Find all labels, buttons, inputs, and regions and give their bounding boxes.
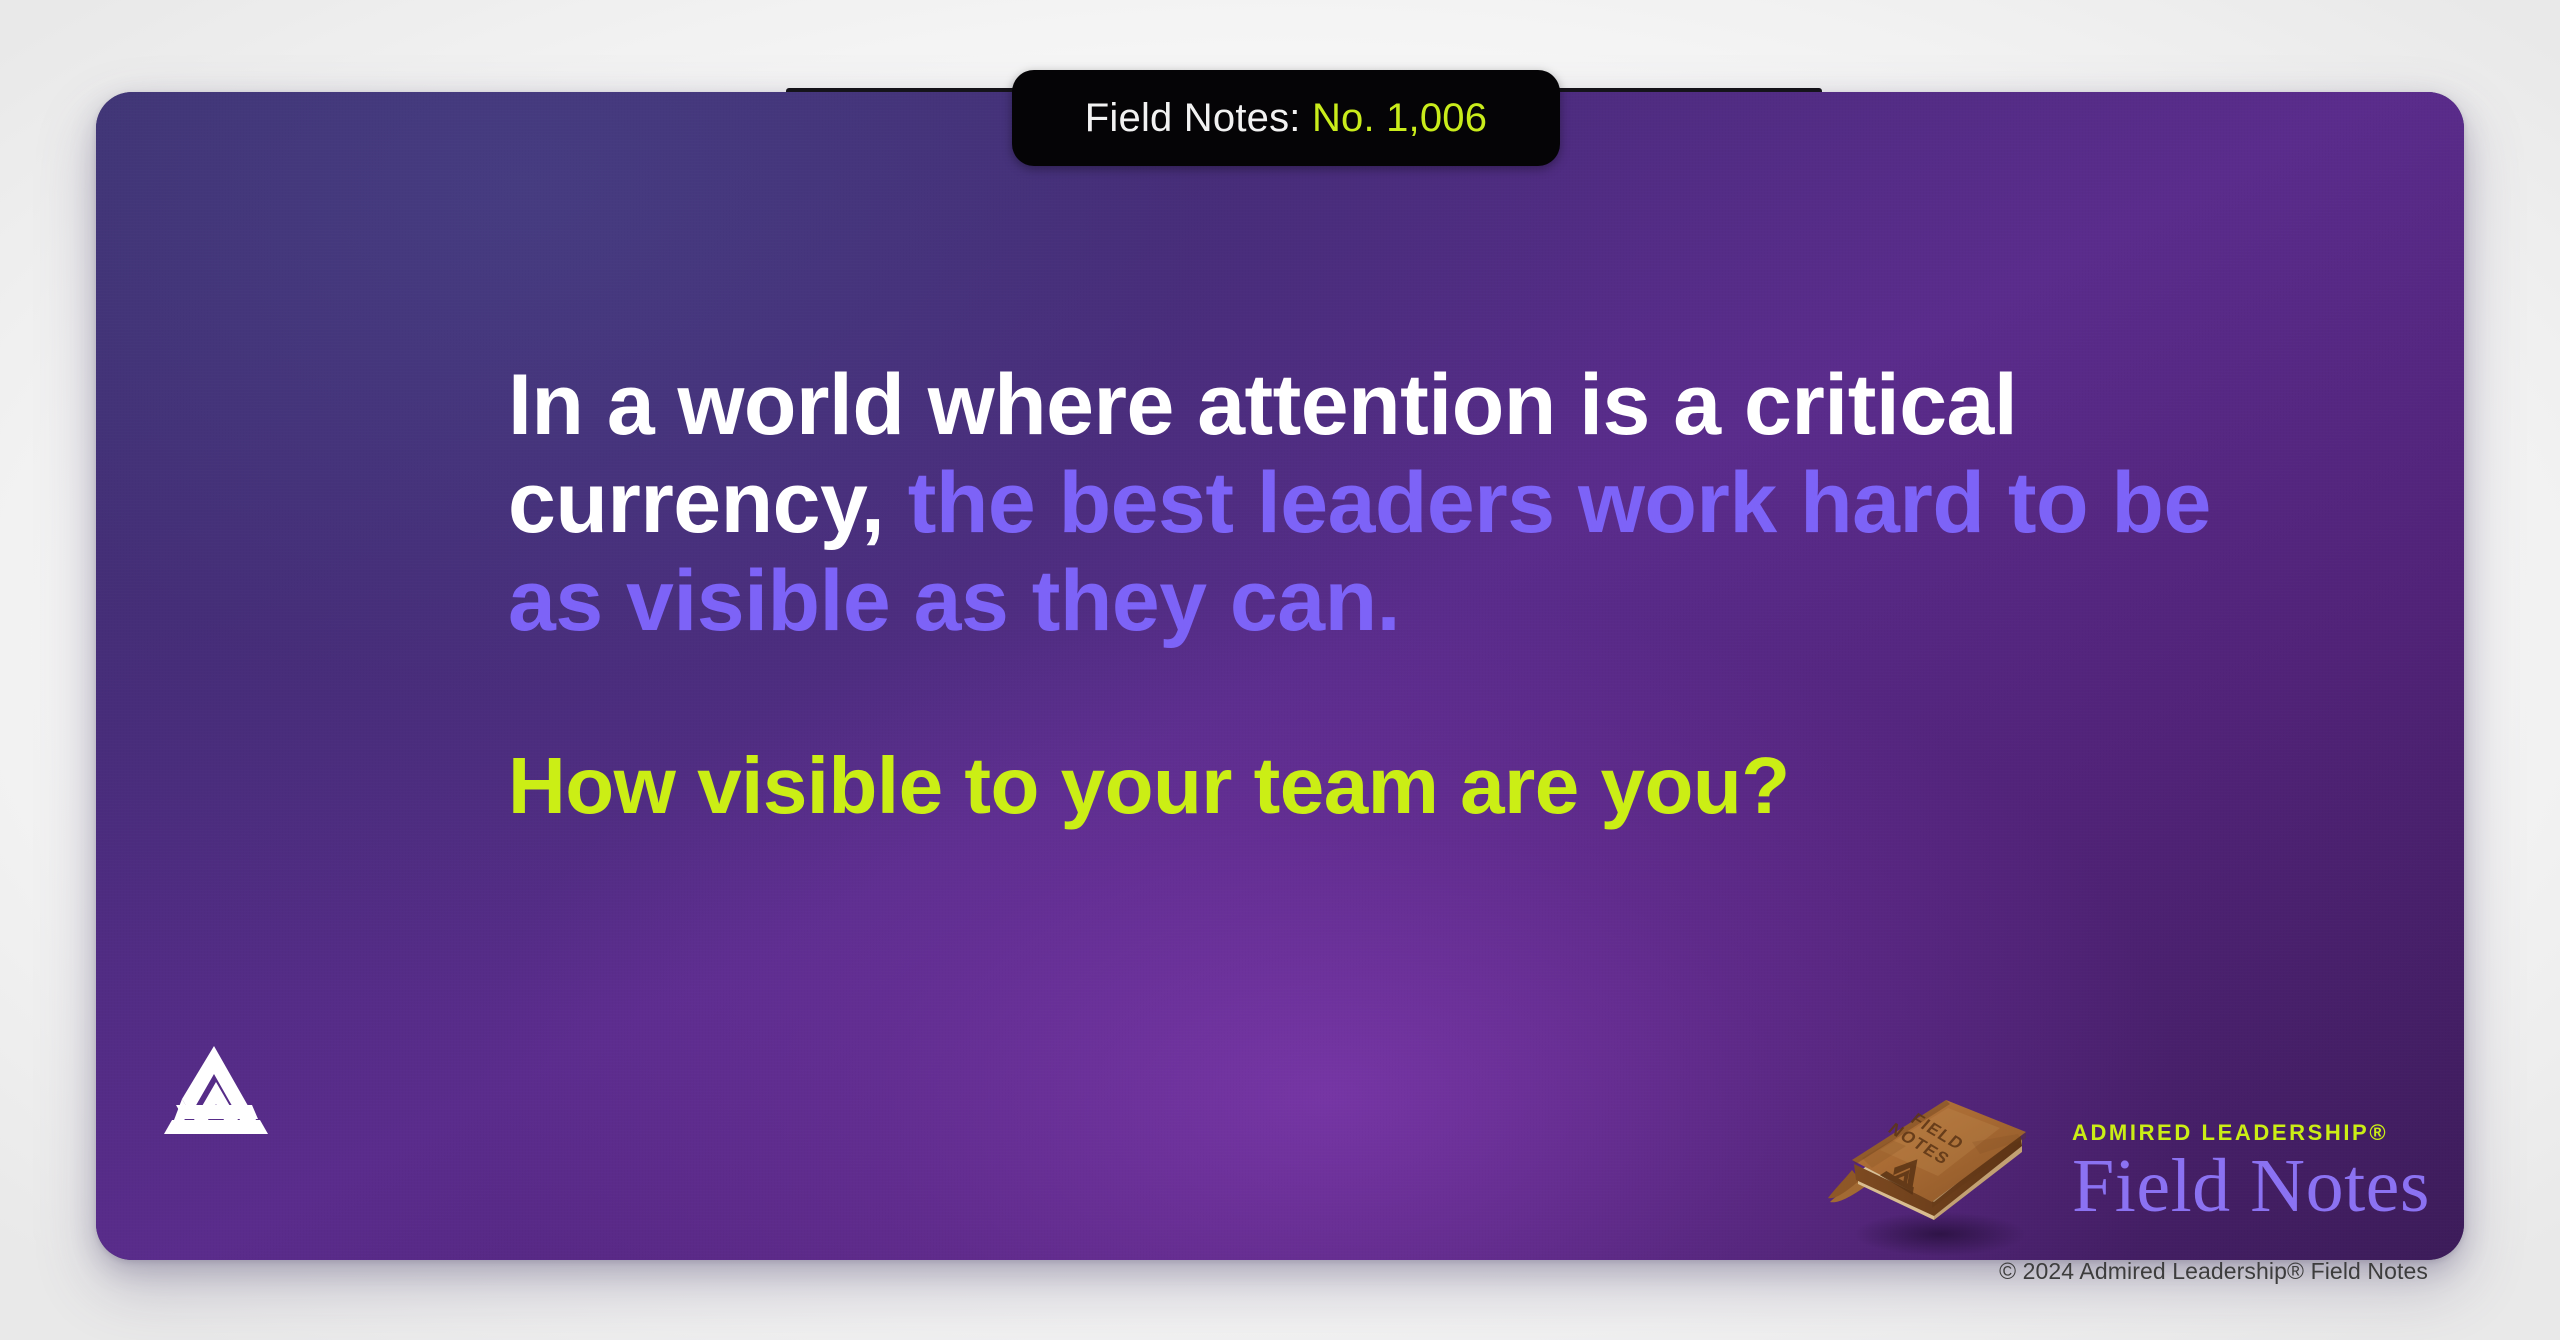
quote-text: In a world where attention is a critical… [508, 356, 2268, 650]
page-background: Field Notes: No. 1,006 In a world where … [0, 0, 2560, 1340]
field-notes-number-badge[interactable]: Field Notes: No. 1,006 [1012, 70, 1560, 166]
badge-issue-number: No. 1,006 [1312, 96, 1487, 141]
field-notes-book-image: FIELD NOTES [1822, 1084, 2038, 1260]
brand-text-block: ADMIRED LEADERSHIP® Field Notes [2072, 1120, 2430, 1224]
question-text: How visible to your team are you? [508, 740, 2268, 831]
copyright-text: © 2024 Admired Leadership® Field Notes [1999, 1258, 2428, 1285]
quote-line-2-white: currency, [508, 455, 908, 551]
badge-label: Field Notes: [1085, 96, 1312, 141]
brand-lockup: FIELD NOTES ADMIRED LEADERSHIP® Field No… [1822, 1084, 2430, 1260]
admired-leadership-logo-icon [160, 1042, 268, 1146]
quote-line-1: In a world where attention is a critical [508, 357, 2017, 453]
quote-line-2-violet: the best leaders work hard [908, 455, 1985, 551]
brand-title: Field Notes [2072, 1148, 2430, 1224]
brand-kicker: ADMIRED LEADERSHIP® [2072, 1120, 2388, 1146]
